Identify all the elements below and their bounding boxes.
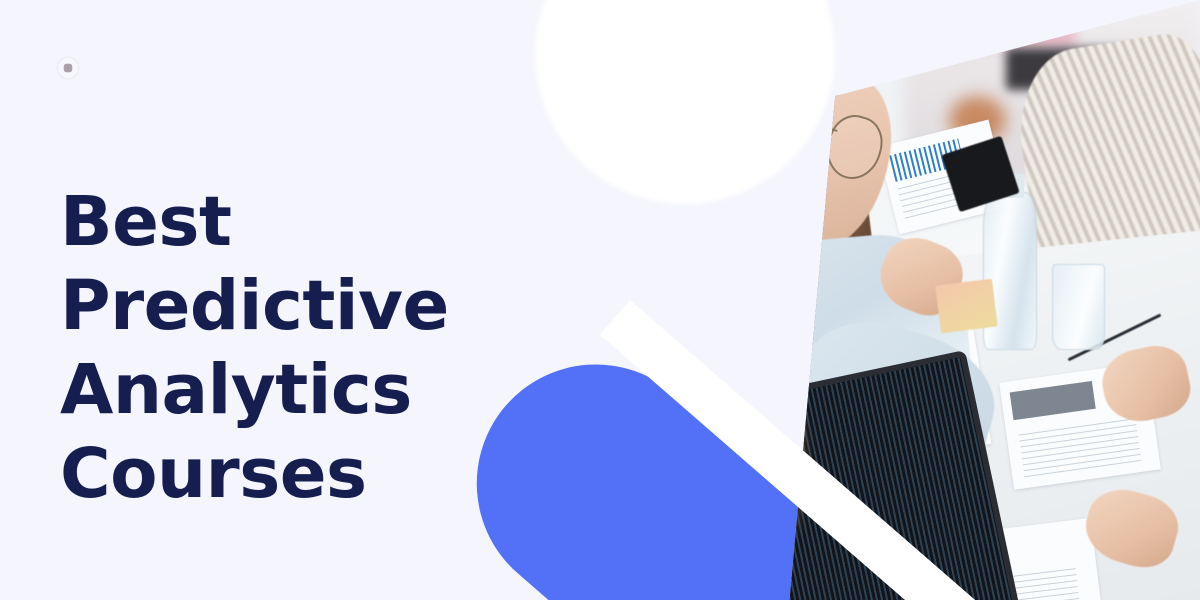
sticky-note-orange: [935, 279, 997, 334]
hand-left-writing: [736, 266, 815, 341]
background-pink-object: [983, 12, 1074, 48]
page-title: Best Predictive Analytics Courses: [60, 180, 540, 516]
headline-line-2: Predictive: [60, 264, 540, 348]
white-teardrop-blob: [507, 0, 863, 232]
gray-chart-graphic: [1010, 381, 1096, 420]
watermark-core-icon: [64, 64, 72, 72]
hero-banner: Best Predictive Analytics Courses: [0, 0, 1200, 600]
drinking-glass: [1052, 264, 1105, 350]
background-teal-object: [926, 12, 966, 54]
text-lines-graphic: [1019, 418, 1142, 477]
headline-line-3: Analytics: [60, 348, 540, 432]
headline-line-4: Courses: [60, 432, 540, 516]
headline-line-1: Best: [60, 180, 540, 264]
hero-artwork: [480, 0, 1200, 600]
circular-watermark-logo: [56, 56, 80, 80]
